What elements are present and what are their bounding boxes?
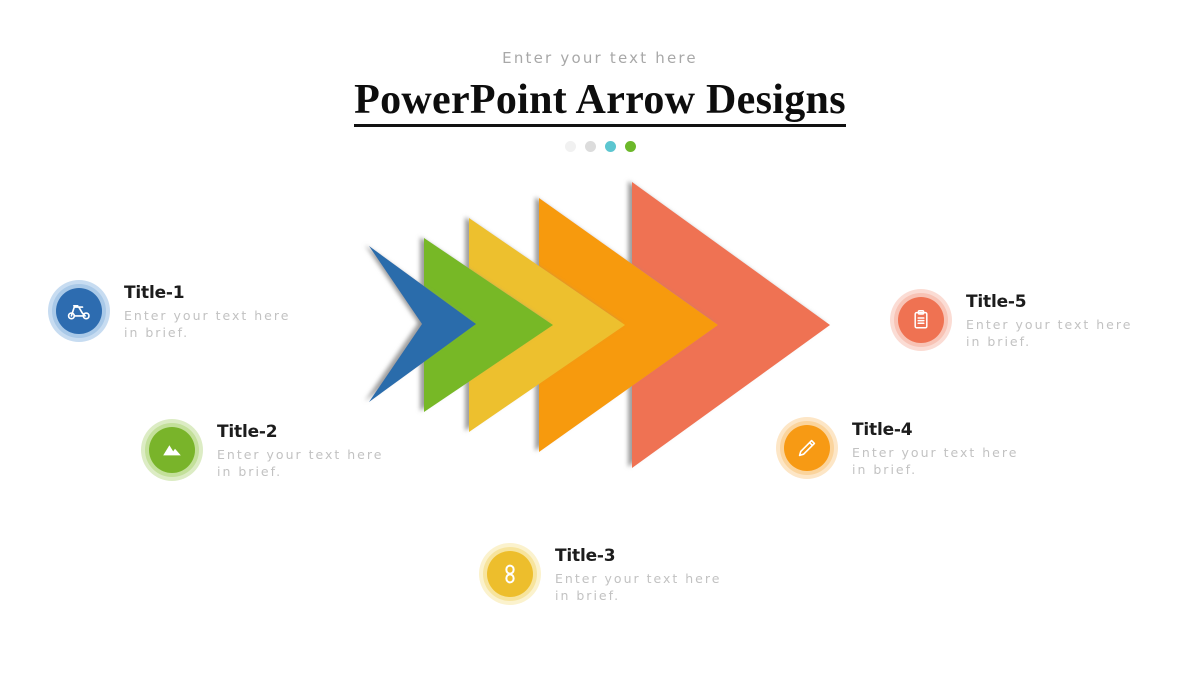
item-4-badge[interactable] xyxy=(776,417,838,479)
pencil-icon xyxy=(795,436,819,460)
item-5-texts: Title-5 Enter your text here in brief. xyxy=(952,291,1132,350)
item-1-desc: Enter your text here in brief. xyxy=(124,307,290,341)
item-2-desc: Enter your text here in brief. xyxy=(217,446,383,480)
item-2-title: Title-2 xyxy=(217,421,383,443)
dot-1 xyxy=(565,141,576,152)
item-5[interactable]: Title-5 Enter your text here in brief. xyxy=(890,289,1132,351)
mountain-icon xyxy=(160,438,184,462)
item-1-texts: Title-1 Enter your text here in brief. xyxy=(110,282,290,341)
arrow-3 xyxy=(469,218,625,432)
arrow-2 xyxy=(424,238,553,412)
dot-2 xyxy=(585,141,596,152)
item-4-core xyxy=(784,425,830,471)
link-icon xyxy=(498,562,522,586)
dot-indicator-group xyxy=(0,141,1200,152)
slide-header: Enter your text here PowerPoint Arrow De… xyxy=(0,48,1200,152)
slide-subtitle: Enter your text here xyxy=(0,48,1200,68)
item-4[interactable]: Title-4 Enter your text here in brief. xyxy=(776,417,1018,479)
item-3-desc: Enter your text here in brief. xyxy=(555,570,721,604)
item-5-title: Title-5 xyxy=(966,291,1132,313)
item-3-texts: Title-3 Enter your text here in brief. xyxy=(541,545,721,604)
item-4-title: Title-4 xyxy=(852,419,1018,441)
item-3[interactable]: Title-3 Enter your text here in brief. xyxy=(479,543,721,605)
slide-title-wrapper: PowerPoint Arrow Designs xyxy=(348,74,852,131)
item-1-title: Title-1 xyxy=(124,282,290,304)
item-4-desc: Enter your text here in brief. xyxy=(852,444,1018,478)
item-1[interactable]: Title-1 Enter your text here in brief. xyxy=(48,280,290,342)
arrow-4 xyxy=(539,198,718,452)
item-2-badge[interactable] xyxy=(141,419,203,481)
item-4-texts: Title-4 Enter your text here in brief. xyxy=(838,419,1018,478)
item-2-core xyxy=(149,427,195,473)
slide-canvas: Enter your text here PowerPoint Arrow De… xyxy=(0,0,1200,675)
item-2[interactable]: Title-2 Enter your text here in brief. xyxy=(141,419,383,481)
dot-4 xyxy=(625,141,636,152)
item-5-core xyxy=(898,297,944,343)
item-3-badge[interactable] xyxy=(479,543,541,605)
scooter-icon xyxy=(66,298,92,324)
clipboard-icon xyxy=(909,308,933,332)
item-1-badge[interactable] xyxy=(48,280,110,342)
item-3-title: Title-3 xyxy=(555,545,721,567)
item-1-core xyxy=(56,288,102,334)
arrow-1 xyxy=(369,246,476,402)
item-2-texts: Title-2 Enter your text here in brief. xyxy=(203,421,383,480)
item-5-badge[interactable] xyxy=(890,289,952,351)
item-3-core xyxy=(487,551,533,597)
item-5-desc: Enter your text here in brief. xyxy=(966,316,1132,350)
dot-3 xyxy=(605,141,616,152)
page-title: PowerPoint Arrow Designs xyxy=(354,74,846,126)
